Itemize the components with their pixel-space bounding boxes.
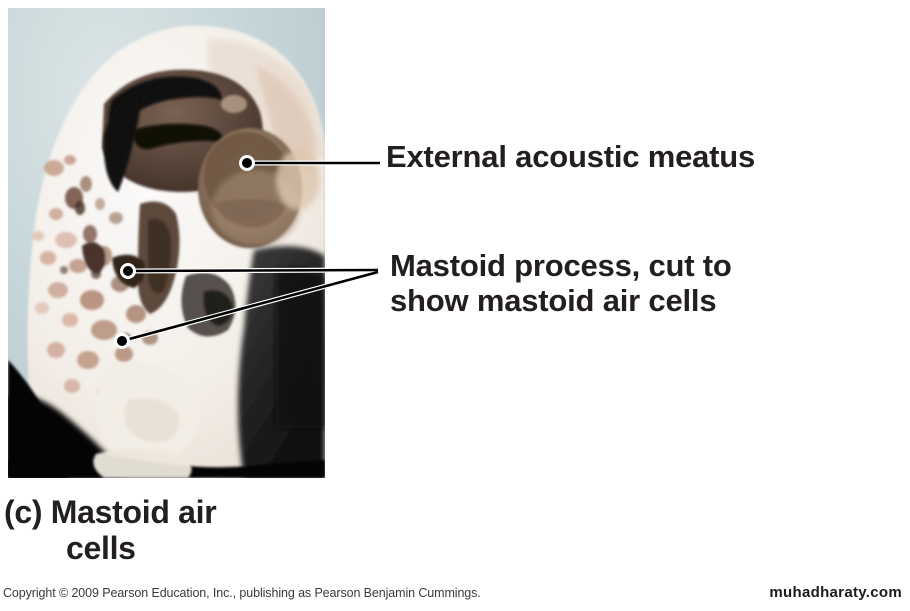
figure-caption-line-1: (c) Mastoid air xyxy=(4,494,216,530)
label-mastoid-line-2: show mastoid air cells xyxy=(390,284,890,319)
site-watermark: muhadharaty.com xyxy=(769,584,902,601)
temporal-bone-photo-svg xyxy=(8,8,325,478)
label-mastoid-line-1: Mastoid process, cut to xyxy=(390,249,890,284)
copyright-notice: Copyright © 2009 Pearson Education, Inc.… xyxy=(3,586,481,600)
specimen-photograph xyxy=(8,8,325,478)
label-mastoid-process: Mastoid process, cut to show mastoid air… xyxy=(390,249,890,318)
label-external-acoustic-meatus: External acoustic meatus xyxy=(386,140,755,175)
figure-caption-line-2: cells xyxy=(4,530,364,566)
figure-caption: (c) Mastoid air cells xyxy=(4,494,364,566)
